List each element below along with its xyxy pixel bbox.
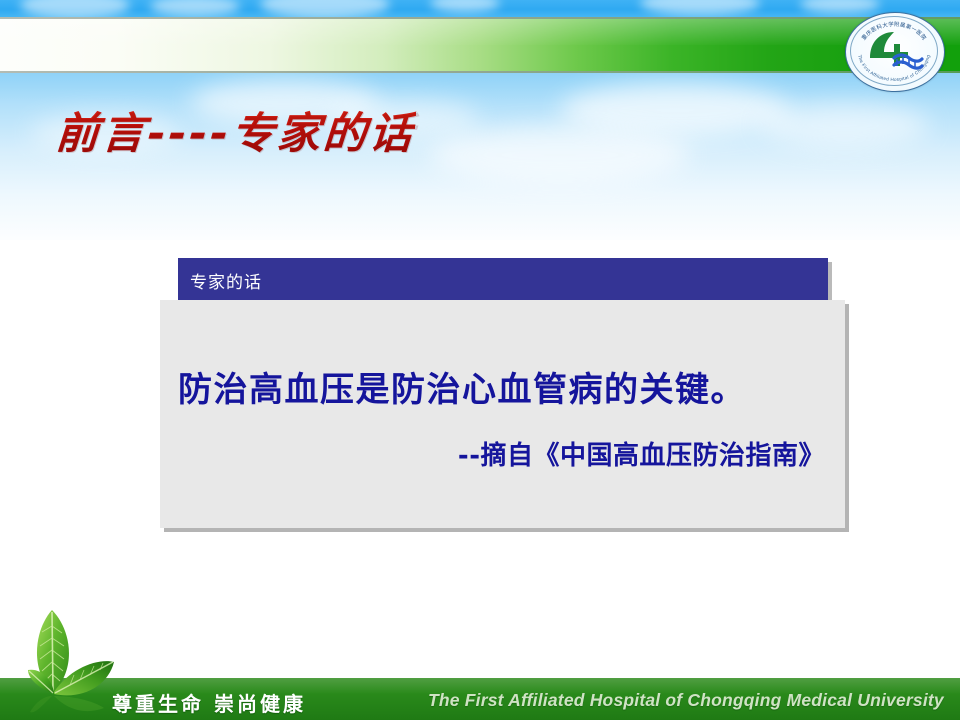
panel-header-bar: 专家的话 [178,258,828,300]
footer-slogan-cn: 尊重生命 崇尚健康 [112,688,306,717]
band-bottom-rule [0,71,960,73]
header-green-band [0,17,960,73]
quote-source-text: --摘自《中国高血压防治指南》 [160,435,825,472]
panel-header-label: 专家的话 [190,268,262,293]
quote-main-text: 防治高血压是防治心血管病的关键。 [178,362,828,411]
sky-top-strip [0,0,960,17]
slide-canvas: 重庆医科大学附属第一医院 The First Affiliated Hospit… [0,0,960,720]
footer-slogan-en: The First Affiliated Hospital of Chongqi… [428,690,944,711]
panel-body: 防治高血压是防治心血管病的关键。 --摘自《中国高血压防治指南》 [160,300,845,528]
logo-emblem-icon [864,28,924,74]
band-sheen [0,19,960,45]
slide-title: 前言----专家的话 [54,99,418,161]
hospital-logo: 重庆医科大学附属第一医院 The First Affiliated Hospit… [845,12,943,90]
